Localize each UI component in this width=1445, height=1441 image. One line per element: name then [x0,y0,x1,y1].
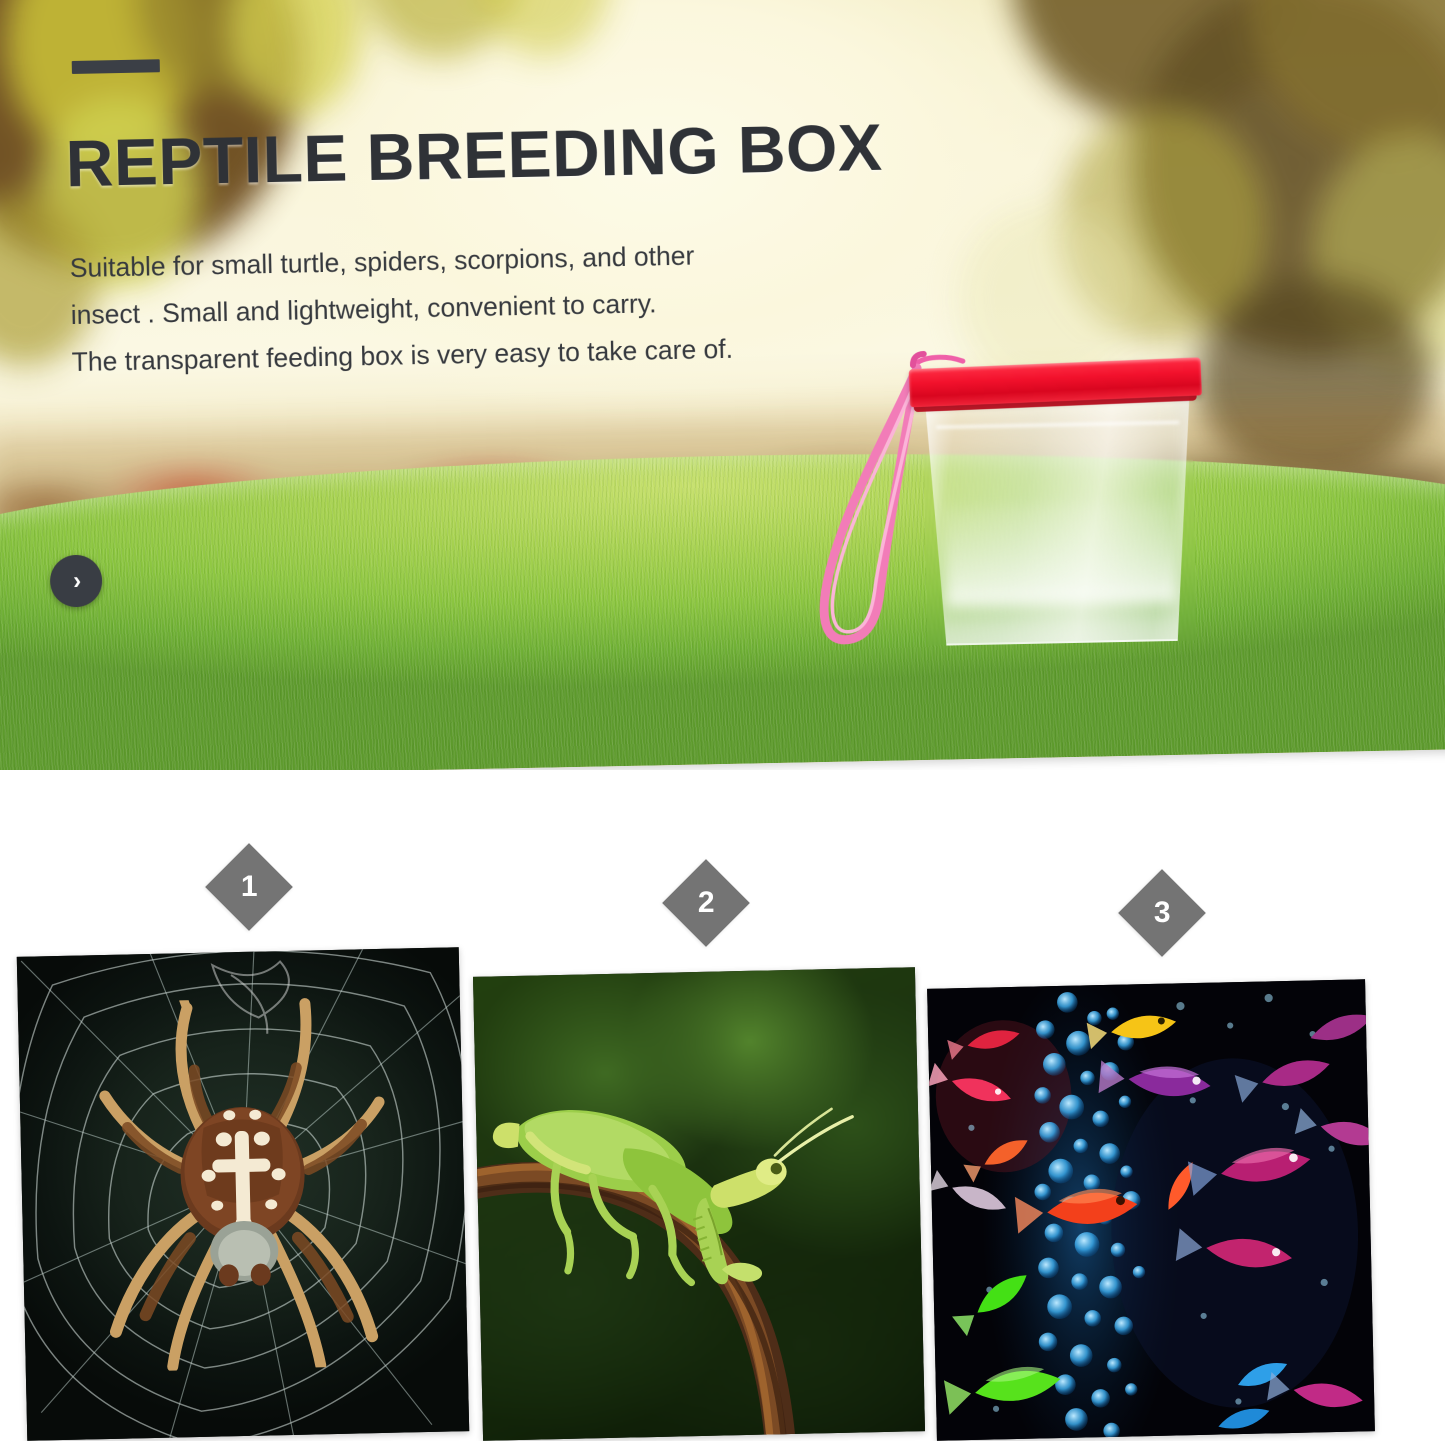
gallery-photo-fish [927,979,1375,1440]
step-badge-1: 1 [205,843,293,931]
chevron-right-icon: › [73,568,82,593]
mantis-body [492,1104,856,1289]
step-badge-3-number: 3 [1154,898,1171,928]
glofish-illustration [927,979,1375,1440]
gallery-photo-spider [17,947,469,1441]
step-badge-1-number: 1 [241,872,258,902]
background-grass-lawn [0,440,1445,770]
box-body [922,383,1196,646]
accent-dash-icon [72,59,160,74]
step-badge-2-number: 2 [698,888,715,918]
step-badge-3: 3 [1118,869,1206,957]
spider-illustration [69,995,417,1372]
hero-banner: REPTILE BREEDING BOX Suitable for small … [0,0,1445,770]
gallery-photo-mantis [473,967,925,1441]
page-title: REPTILE BREEDING BOX [65,114,883,196]
hero-banner-image: REPTILE BREEDING BOX Suitable for small … [0,0,1445,770]
mantis-illustration [473,967,925,1441]
step-badge-2: 2 [662,859,750,947]
product-image-breeding-box [887,336,1224,673]
